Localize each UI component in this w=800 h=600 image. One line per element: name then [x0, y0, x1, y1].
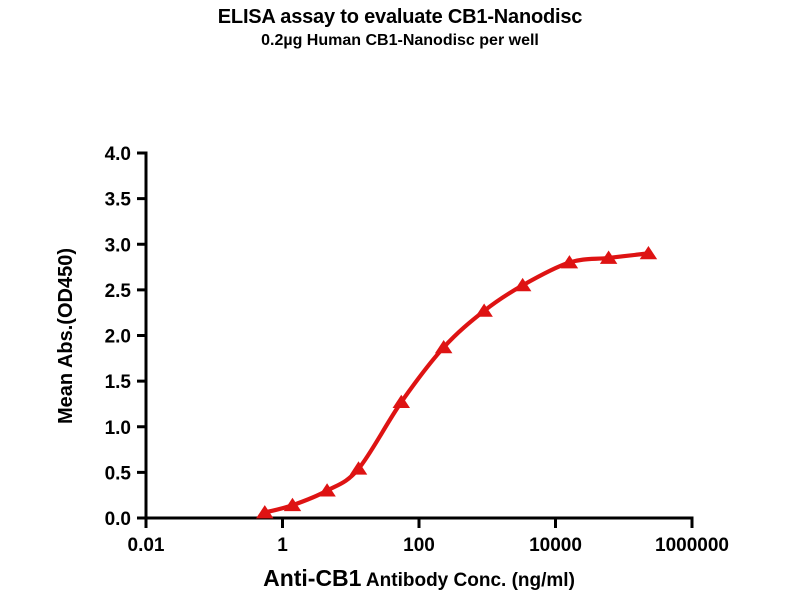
- x-tick-labels: 0.011100100001000000: [128, 535, 729, 556]
- plot-area: 0.00.51.01.52.02.53.03.54.0 0.0111001000…: [0, 0, 800, 600]
- x-tick-label: 0.01: [128, 535, 165, 556]
- y-tick-labels: 0.00.51.01.52.02.53.03.54.0: [105, 144, 132, 530]
- elisa-chart-figure: ELISA assay to evaluate CB1-Nanodisc 0.2…: [0, 0, 800, 600]
- y-tick-label: 2.5: [105, 281, 132, 302]
- y-tick-label: 0.5: [105, 463, 132, 484]
- title-block: ELISA assay to evaluate CB1-Nanodisc 0.2…: [0, 4, 800, 52]
- y-tick-label: 3.5: [105, 190, 132, 211]
- x-tick-label: 1: [277, 535, 288, 556]
- y-tick-label: 3.0: [105, 235, 131, 256]
- y-tick-label: 1.0: [105, 418, 131, 439]
- x-tick-label: 10000: [529, 535, 582, 556]
- x-tick-label: 100: [403, 535, 435, 556]
- x-axis-label: Anti-CB1 Antibody Conc. (ng/ml): [263, 565, 575, 591]
- y-tick-label: 4.0: [105, 144, 131, 165]
- data-markers: [256, 246, 657, 518]
- x-axis-label-sub: Antibody Conc. (ng/ml): [366, 570, 575, 591]
- dose-response-curve: [265, 253, 649, 512]
- x-axis-label-main: Anti-CB1: [263, 565, 362, 591]
- y-axis-label: Mean Abs.(OD450): [55, 248, 77, 424]
- y-tick-label: 1.5: [105, 372, 132, 393]
- y-tick-label: 0.0: [105, 509, 131, 530]
- chart-subtitle: 0.2µg Human CB1-Nanodisc per well: [0, 30, 800, 52]
- x-tick-label: 1000000: [655, 535, 729, 556]
- chart-title: ELISA assay to evaluate CB1-Nanodisc: [0, 4, 800, 30]
- y-tick-label: 2.0: [105, 327, 131, 348]
